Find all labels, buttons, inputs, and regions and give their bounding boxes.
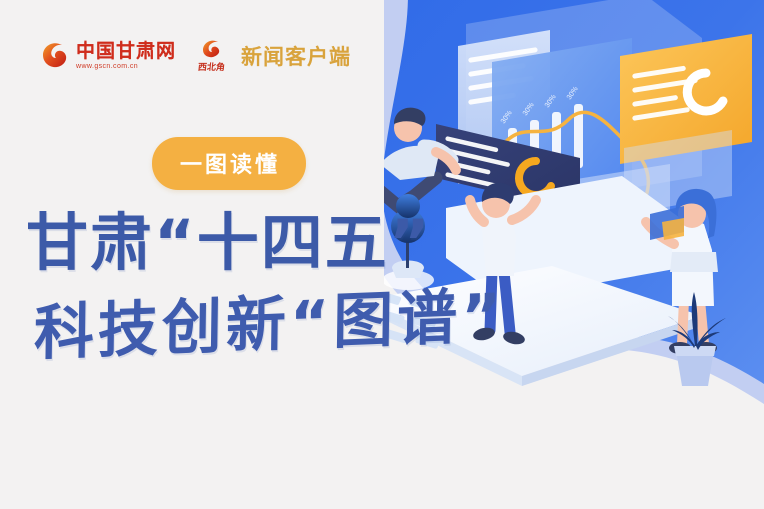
refresh-icon-orange — [519, 161, 551, 195]
xibeijiao-seal: 西北角 — [198, 39, 225, 73]
gold-card — [620, 34, 752, 164]
refresh-icon-white — [687, 73, 723, 111]
headline-line-2: 科技创新“图谱” — [34, 283, 586, 364]
potted-plant — [668, 292, 726, 386]
logo-row: 中国甘肃网 www.gscn.com.cn 西北角 — [40, 36, 351, 76]
poster-canvas: 30% 30% 30% 30% — [0, 0, 764, 509]
gansu-net-logo[interactable]: 中国甘肃网 www.gscn.com.cn — [40, 39, 176, 74]
gansu-net-url: www.gscn.com.cn — [76, 63, 176, 70]
news-client-logo[interactable]: 西北角 新闻客户端 — [198, 39, 351, 73]
page-title: 甘肃“十四五” 科技创新“图谱” — [26, 212, 586, 364]
svg-text:30%: 30% — [522, 102, 536, 117]
screen-panel-back — [466, 0, 702, 206]
panel-chart-mid: 30% 30% 30% 30% — [492, 38, 648, 220]
gansu-flame-icon — [40, 39, 70, 74]
xibeijiao-text: 西北角 — [197, 60, 225, 73]
svg-text:30%: 30% — [544, 94, 558, 109]
news-client-name: 新闻客户端 — [241, 41, 351, 71]
svg-text:30%: 30% — [566, 86, 580, 101]
headline-line-1: 甘肃“十四五” — [26, 212, 586, 274]
person-jumping — [384, 108, 456, 221]
panel-light-lowright — [624, 130, 732, 214]
read-in-one-picture-badge[interactable]: 一图读懂 — [152, 137, 306, 190]
panel-light-left — [458, 30, 550, 184]
svg-text:30%: 30% — [500, 110, 514, 125]
gansu-net-text: 中国甘肃网 www.gscn.com.cn — [76, 42, 176, 70]
person-standing-right — [646, 189, 718, 354]
gansu-net-name: 中国甘肃网 — [76, 42, 176, 61]
dark-card — [436, 124, 580, 212]
